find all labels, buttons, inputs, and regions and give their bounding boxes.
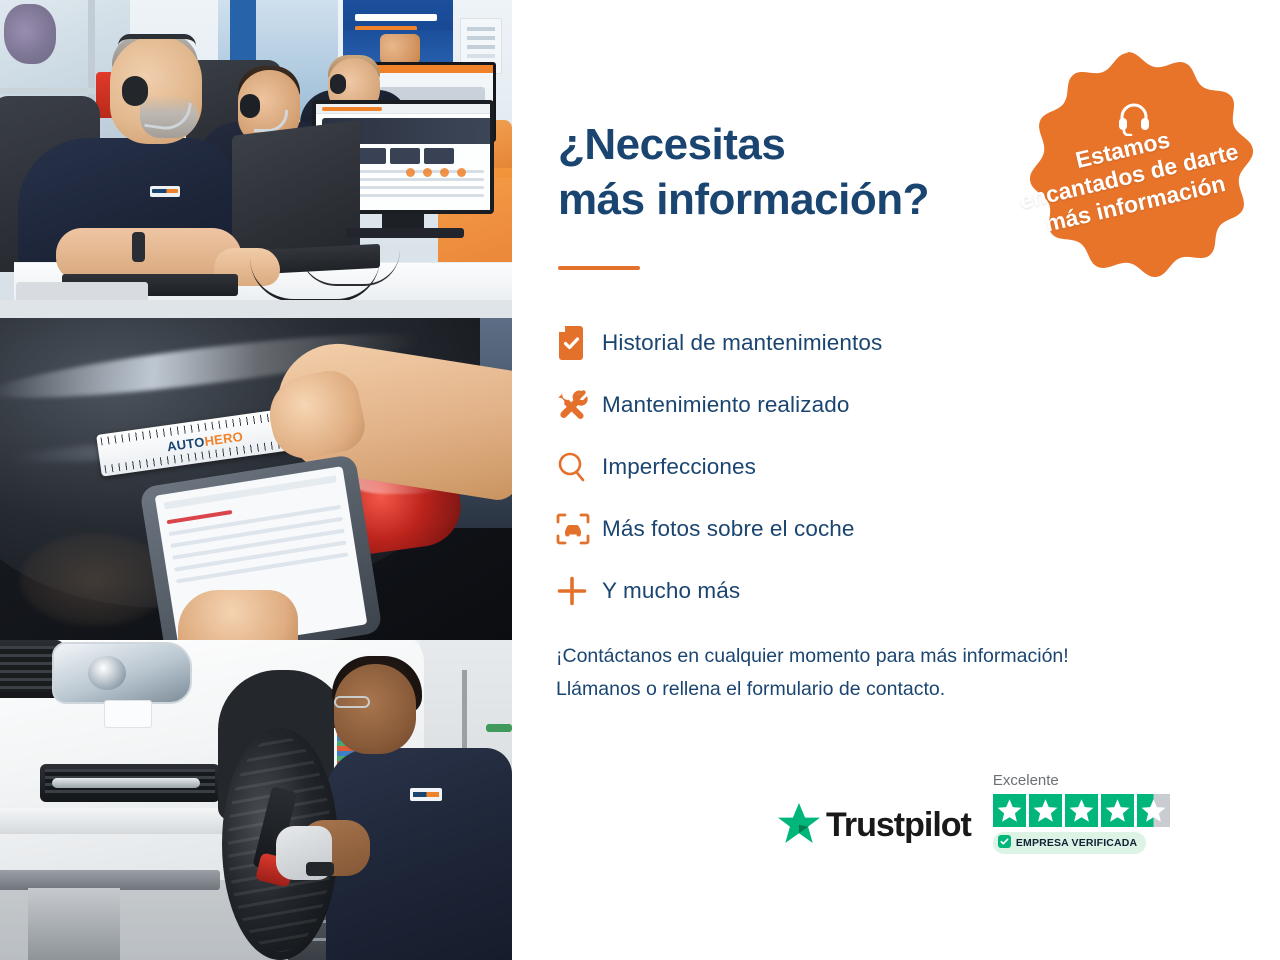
- verified-badge: EMPRESA VERIFICADA: [993, 832, 1146, 854]
- car-headlight: [52, 642, 192, 704]
- feature-label: Más fotos sobre el coche: [602, 516, 855, 542]
- document-check-icon: [556, 326, 602, 360]
- front-bumper: [0, 808, 244, 834]
- trustpilot-rating: Excelente EMPRESA VERIFICADA: [993, 772, 1170, 854]
- feature-label: Historial de mantenimientos: [602, 330, 882, 356]
- contact-line-1: ¡Contáctanos en cualquier momento para m…: [556, 640, 1226, 673]
- trustpilot-star-icon: [778, 803, 820, 848]
- check-circle-icon: [998, 835, 1011, 851]
- feature-label: Y mucho más: [602, 578, 740, 604]
- plus-icon: [556, 575, 602, 607]
- agent-one-polo-logo: [150, 186, 180, 197]
- photo-column: AUTOHERO: [0, 0, 512, 960]
- monitor-base: [346, 228, 464, 238]
- trustpilot-wordmark: Trustpilot: [826, 806, 971, 845]
- trustpilot-logo[interactable]: Trustpilot: [778, 803, 971, 854]
- tools-icon: [556, 388, 602, 422]
- mechanic-watch: [306, 862, 334, 876]
- feature-item-more-photos: Más fotos sobre el coche: [556, 498, 1116, 560]
- feature-item-imperfections: Imperfecciones: [556, 436, 1116, 498]
- call-center-agents-photo: [0, 0, 512, 318]
- chrome-trim: [52, 778, 200, 788]
- contact-line-2: Llámanos o rellena el formulario de cont…: [556, 673, 1226, 706]
- tree-outside: [4, 4, 56, 64]
- body-reflection: [20, 534, 170, 626]
- license-plate-area: [104, 700, 152, 728]
- car-frame-icon: [556, 513, 602, 545]
- feature-item-maintenance-done: Mantenimiento realizado: [556, 374, 1116, 436]
- green-marker: [486, 724, 512, 732]
- rating-star: [1065, 794, 1098, 827]
- car-lift-arm: [0, 870, 220, 890]
- desk-front-edge: [0, 300, 512, 318]
- trustpilot-block[interactable]: Trustpilot Excelente: [778, 772, 1198, 854]
- features-list: Historial de mantenimientos Mantenimient…: [556, 312, 1116, 622]
- agent-one-watch: [132, 232, 145, 262]
- agent-one-headset-cup: [122, 76, 148, 106]
- magnifier-icon: [556, 451, 602, 483]
- rating-star: [993, 794, 1026, 827]
- mechanic-polo-logo: [410, 788, 442, 801]
- mechanic-head: [334, 664, 416, 754]
- car-inspection-photo: AUTOHERO: [0, 318, 512, 640]
- trustpilot-stars: [993, 794, 1170, 827]
- title-divider: [558, 266, 640, 270]
- verified-label: EMPRESA VERIFICADA: [1016, 837, 1137, 849]
- car-lift-post: [28, 888, 120, 960]
- poster-people: [380, 34, 420, 64]
- page-title: ¿Necesitas más información?: [558, 118, 1018, 227]
- feature-label: Imperfecciones: [602, 454, 756, 480]
- rating-star: [1029, 794, 1062, 827]
- inspector-second-hand: [178, 590, 298, 640]
- promo-card: AUTOHERO: [0, 0, 1280, 960]
- agent-one-headband: [118, 34, 196, 46]
- rating-star: [1101, 794, 1134, 827]
- headline-line-1: ¿Necesitas: [558, 120, 785, 169]
- desk-pad: [16, 282, 148, 302]
- trustpilot-rating-label: Excelente: [993, 772, 1170, 789]
- content-panel: ¿Necesitas más información? Estamos enca…: [512, 0, 1280, 960]
- contact-text: ¡Contáctanos en cualquier momento para m…: [556, 640, 1226, 706]
- feature-label: Mantenimiento realizado: [602, 392, 849, 418]
- rating-star-half: [1137, 794, 1170, 827]
- mechanic-glasses: [334, 696, 370, 708]
- workshop-tire-photo: [0, 640, 512, 960]
- headline-line-2: más información?: [558, 175, 929, 224]
- agent-three-headset: [330, 74, 346, 94]
- feature-item-maintenance-history: Historial de mantenimientos: [556, 312, 1116, 374]
- support-badge: Estamos encantados de darte más informac…: [998, 48, 1258, 310]
- feature-item-much-more: Y mucho más: [556, 560, 1116, 622]
